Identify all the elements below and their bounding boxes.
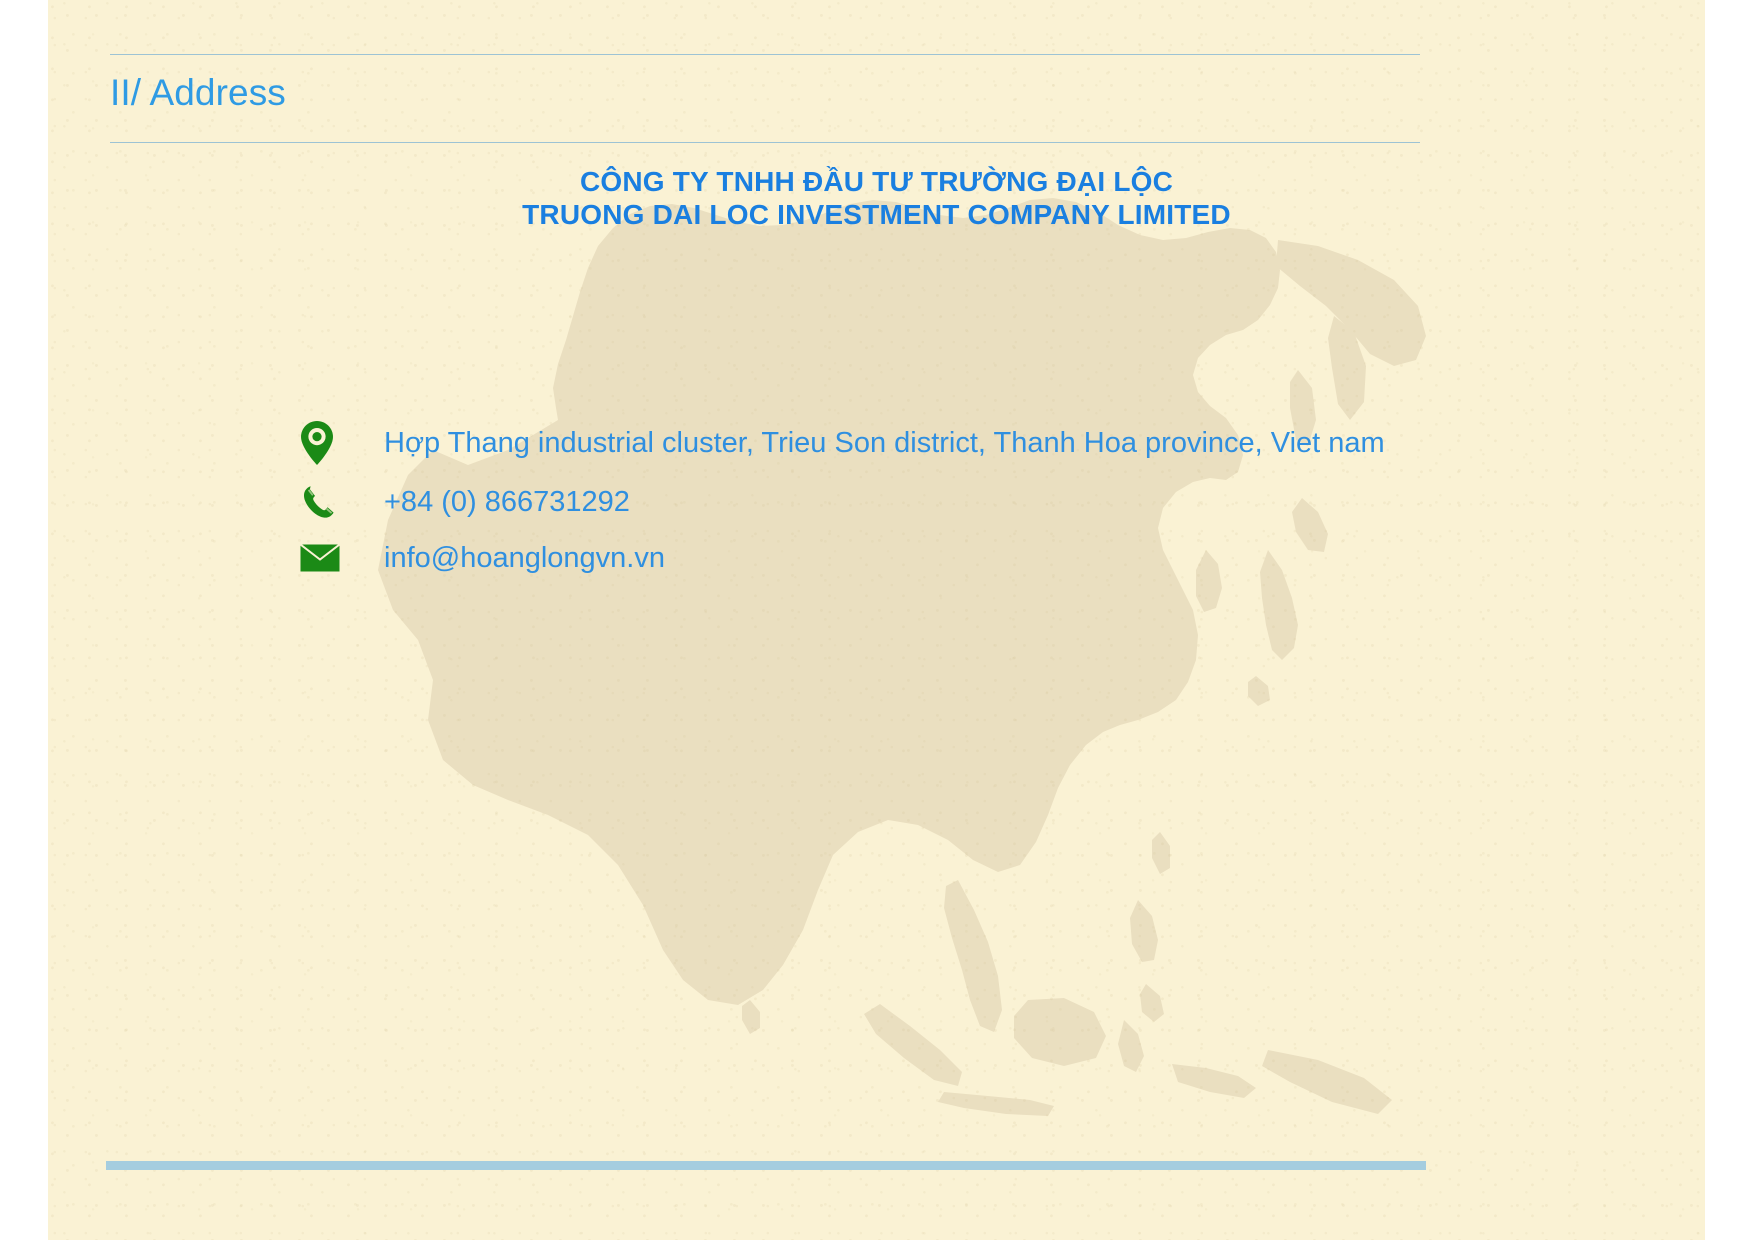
header-rule-bottom <box>110 142 1420 143</box>
asia-landmass <box>378 198 1280 1005</box>
japan-kyushu <box>1248 676 1270 706</box>
phone-icon <box>300 480 344 524</box>
phone-text: +84 (0) 866731292 <box>384 488 630 517</box>
philippines-luzon <box>1130 900 1158 962</box>
page-title: II/ Address <box>110 72 286 114</box>
new-guinea-island <box>1262 1050 1392 1114</box>
company-name-block: CÔNG TY TNHH ĐẦU TƯ TRƯỜNG ĐẠI LỘC TRUON… <box>48 165 1705 231</box>
java-island <box>938 1092 1054 1116</box>
sulawesi-island <box>1118 1020 1144 1072</box>
footer-accent-bar <box>106 1161 1426 1170</box>
taiwan-island <box>1152 832 1170 874</box>
contact-row-phone: +84 (0) 866731292 <box>300 474 1480 530</box>
slide-canvas: II/ Address CÔNG TY TNHH ĐẦU TƯ TRƯỜNG Đ… <box>48 0 1705 1240</box>
envelope-icon <box>300 536 344 580</box>
borneo-island <box>1014 998 1106 1066</box>
sri-lanka-island <box>742 1000 760 1034</box>
location-pin-icon <box>300 421 344 465</box>
asia-map-background <box>258 120 1498 1120</box>
indochina <box>944 880 1002 1032</box>
email-text: info@hoanglongvn.vn <box>384 544 665 573</box>
company-name-vietnamese: CÔNG TY TNHH ĐẦU TƯ TRƯỜNG ĐẠI LỘC <box>48 165 1705 198</box>
lesser-sunda-islands <box>1172 1064 1256 1098</box>
address-text: Hợp Thang industrial cluster, Trieu Son … <box>384 429 1385 458</box>
philippines-mindanao <box>1140 984 1164 1022</box>
contact-list: Hợp Thang industrial cluster, Trieu Son … <box>300 412 1480 586</box>
contact-row-address: Hợp Thang industrial cluster, Trieu Son … <box>300 412 1480 474</box>
company-name-english: TRUONG DAI LOC INVESTMENT COMPANY LIMITE… <box>48 198 1705 231</box>
sumatra-island <box>864 1004 962 1086</box>
contact-row-email: info@hoanglongvn.vn <box>300 530 1480 586</box>
header-rule-top <box>110 54 1420 55</box>
